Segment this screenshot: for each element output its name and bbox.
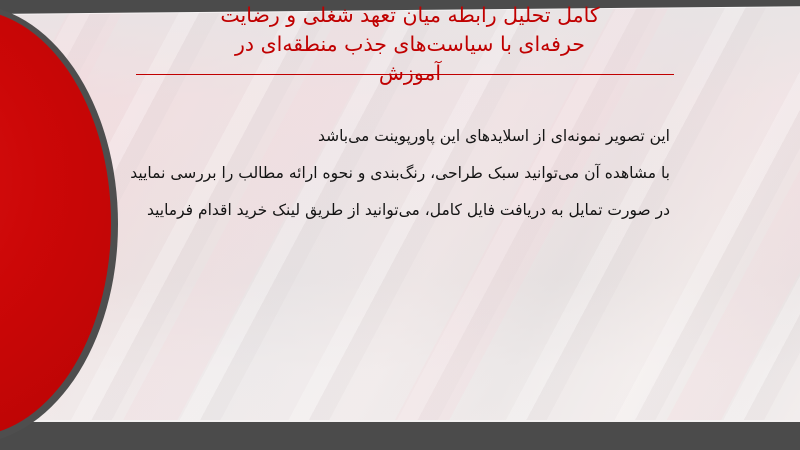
slide-body-line-1: این تصویر نمونه‌ای از اسلایدهای این پاور… xyxy=(150,118,670,155)
slide-body-line-2: با مشاهده آن می‌توانید سبک طراحی، رنگ‌بن… xyxy=(150,155,670,192)
dark-bottom-band xyxy=(0,420,800,450)
slide-title: کامل تحلیل رابطه میان تعهد شغلی و رضایت … xyxy=(140,4,680,88)
red-oval-shape xyxy=(0,4,118,444)
red-oval-fill xyxy=(0,9,111,437)
presentation-slide: کامل تحلیل رابطه میان تعهد شغلی و رضایت … xyxy=(0,0,800,450)
title-underline-rule xyxy=(136,74,674,75)
slide-title-line-1: کامل تحلیل رابطه میان تعهد شغلی و رضایت xyxy=(140,1,680,30)
slide-body-line-3: در صورت تمایل به دریافت فایل کامل، می‌تو… xyxy=(150,192,670,229)
slide-body-text: این تصویر نمونه‌ای از اسلایدهای این پاور… xyxy=(150,118,670,229)
slide-title-line-2: حرفه‌ای با سیاست‌های جذب منطقه‌ای در xyxy=(140,30,680,59)
